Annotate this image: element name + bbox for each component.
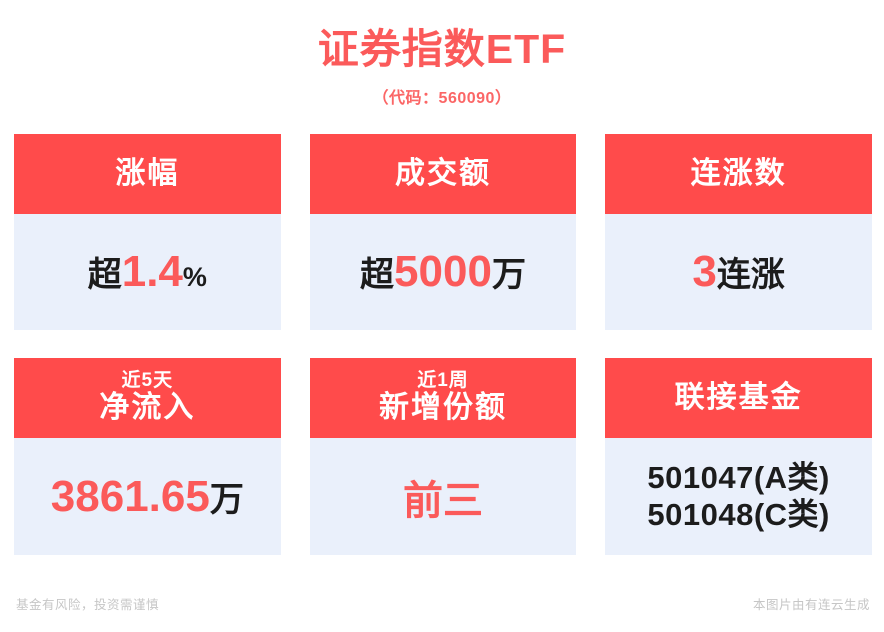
feeder-fund-class-a: 501047(A类) bbox=[647, 460, 829, 497]
card-title-new-shares: 新增份额 bbox=[379, 392, 507, 424]
card-title-gain: 涨幅 bbox=[115, 158, 179, 190]
footer-attribution: 本图片由有连云生成 bbox=[753, 594, 870, 613]
streak-suffix: 连涨 bbox=[717, 256, 785, 294]
fund-code-label: （代码：560090） bbox=[0, 84, 884, 108]
feeder-fund-class-c: 501048(C类) bbox=[647, 497, 829, 534]
gain-number: 1.4 bbox=[122, 247, 183, 296]
new-shares-value: 前三 bbox=[403, 479, 483, 523]
infographic-page: 证券指数ETF （代码：560090） 涨幅 超1.4% 成交额 超5000万 bbox=[0, 0, 884, 632]
card-subtitle-net-inflow: 近5天 bbox=[122, 371, 174, 392]
turnover-prefix: 超 bbox=[360, 256, 394, 294]
card-title-streak: 连涨数 bbox=[691, 158, 787, 190]
metric-card-turnover: 成交额 超5000万 bbox=[310, 134, 577, 330]
card-value-streak: 3连涨 bbox=[605, 214, 872, 330]
turnover-number: 5000 bbox=[394, 247, 492, 296]
card-value-feeder-fund: 501047(A类) 501048(C类) bbox=[605, 438, 872, 555]
card-subtitle-new-shares: 近1周 bbox=[417, 371, 469, 392]
gain-suffix: % bbox=[183, 262, 207, 292]
card-header-feeder-fund: 联接基金 bbox=[605, 358, 872, 438]
card-title-net-inflow: 净流入 bbox=[99, 392, 195, 424]
metric-card-streak: 连涨数 3连涨 bbox=[605, 134, 872, 330]
card-value-turnover: 超5000万 bbox=[310, 214, 577, 330]
footer: 基金有风险，投资需谨慎 本图片由有连云生成 bbox=[0, 594, 884, 612]
metric-card-grid: 涨幅 超1.4% 成交额 超5000万 连涨数 bbox=[14, 134, 872, 555]
gain-prefix: 超 bbox=[88, 256, 122, 294]
card-header-gain: 涨幅 bbox=[14, 134, 281, 214]
card-header-turnover: 成交额 bbox=[310, 134, 577, 214]
card-header-new-shares: 近1周 新增份额 bbox=[310, 358, 577, 438]
streak-number: 3 bbox=[692, 247, 716, 296]
metric-card-feeder-fund: 联接基金 501047(A类) 501048(C类) bbox=[605, 358, 872, 555]
net-inflow-number: 3861.65 bbox=[51, 472, 210, 521]
page-title: 证券指数ETF bbox=[0, 28, 884, 71]
metric-card-new-shares: 近1周 新增份额 前三 bbox=[310, 358, 577, 555]
card-header-net-inflow: 近5天 净流入 bbox=[14, 358, 281, 438]
metric-card-gain: 涨幅 超1.4% bbox=[14, 134, 281, 330]
card-value-new-shares: 前三 bbox=[310, 438, 577, 555]
turnover-suffix: 万 bbox=[492, 256, 526, 294]
card-title-feeder-fund: 联接基金 bbox=[675, 382, 803, 414]
metric-card-net-inflow: 近5天 净流入 3861.65万 bbox=[14, 358, 281, 555]
card-title-turnover: 成交额 bbox=[395, 158, 491, 190]
card-value-net-inflow: 3861.65万 bbox=[14, 438, 281, 555]
title-block: 证券指数ETF （代码：560090） bbox=[0, 0, 884, 108]
card-header-streak: 连涨数 bbox=[605, 134, 872, 214]
net-inflow-suffix: 万 bbox=[210, 481, 244, 519]
footer-disclaimer: 基金有风险，投资需谨慎 bbox=[16, 594, 159, 613]
card-value-gain: 超1.4% bbox=[14, 214, 281, 330]
